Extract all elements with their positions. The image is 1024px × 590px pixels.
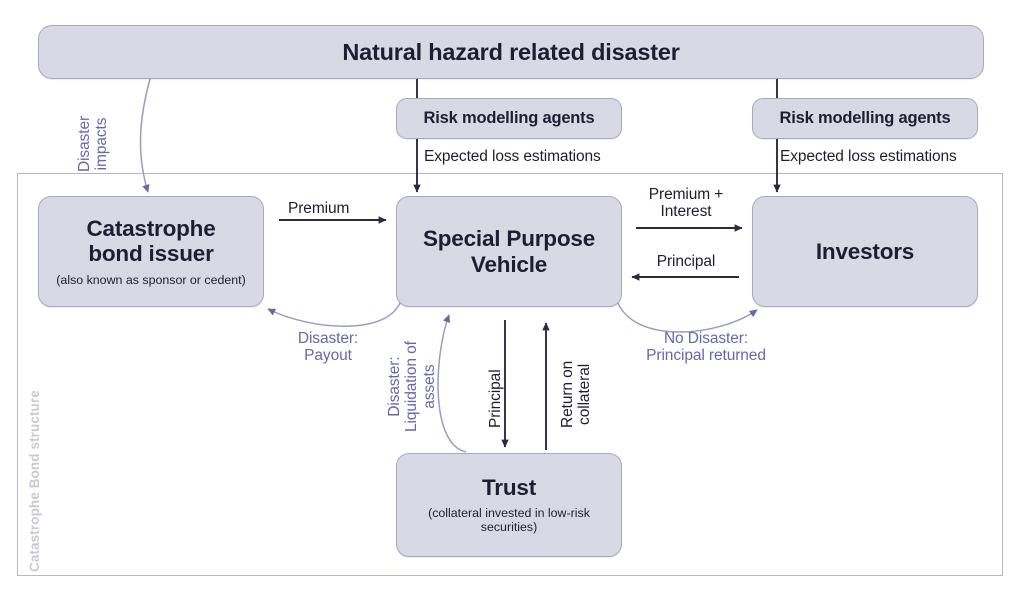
node-risk-modelling-agents-right[interactable]: Risk modelling agents [752, 98, 978, 139]
node-issuer-title: Catastrophe bond issuer [86, 216, 215, 267]
node-catastrophe-bond-issuer[interactable]: Catastrophe bond issuer (also known as s… [38, 196, 264, 307]
node-hazard-title: Natural hazard related disaster [342, 39, 679, 66]
node-issuer-subtitle: (also known as sponsor or cedent) [56, 273, 245, 287]
edge-label-principal-vertical: Principal [487, 369, 504, 428]
edge-label-premium: Premium [288, 200, 349, 217]
node-risk-modelling-agents-left[interactable]: Risk modelling agents [396, 98, 622, 139]
diagram-canvas: Catastrophe Bond structure [0, 0, 1024, 590]
node-natural-hazard-related-disaster[interactable]: Natural hazard related disaster [38, 25, 984, 79]
edge-label-expected-loss-left: Expected loss estimations [424, 148, 601, 165]
node-special-purpose-vehicle[interactable]: Special Purpose Vehicle [396, 196, 622, 307]
node-investors-title: Investors [816, 239, 914, 265]
edge-label-principal-right: Principal [645, 253, 727, 270]
node-trust-title: Trust [482, 475, 536, 501]
node-spv-title: Special Purpose Vehicle [423, 226, 595, 277]
edge-label-no-disaster-principal-returned: No Disaster: Principal returned [620, 330, 792, 365]
edge-label-disaster-payout: Disaster: Payout [276, 330, 380, 365]
edge-label-premium-interest: Premium + Interest [640, 186, 732, 221]
node-investors[interactable]: Investors [752, 196, 978, 307]
edge-label-disaster-impacts: Disaster impacts [76, 116, 111, 172]
edge-label-expected-loss-right: Expected loss estimations [780, 148, 957, 165]
node-trust[interactable]: Trust (collateral invested in low-risk s… [396, 453, 622, 557]
node-rma-right-title: Risk modelling agents [780, 109, 951, 128]
frame-label-catastrophe-bond-structure: Catastrophe Bond structure [27, 390, 42, 572]
edge-label-return-on-collateral: Return on collateral [559, 361, 594, 428]
node-rma-left-title: Risk modelling agents [424, 109, 595, 128]
edge-label-disaster-liquidation-of-assets: Disaster: Liquidation of assets [386, 341, 438, 432]
node-trust-subtitle: (collateral invested in low-risk securit… [397, 506, 621, 535]
